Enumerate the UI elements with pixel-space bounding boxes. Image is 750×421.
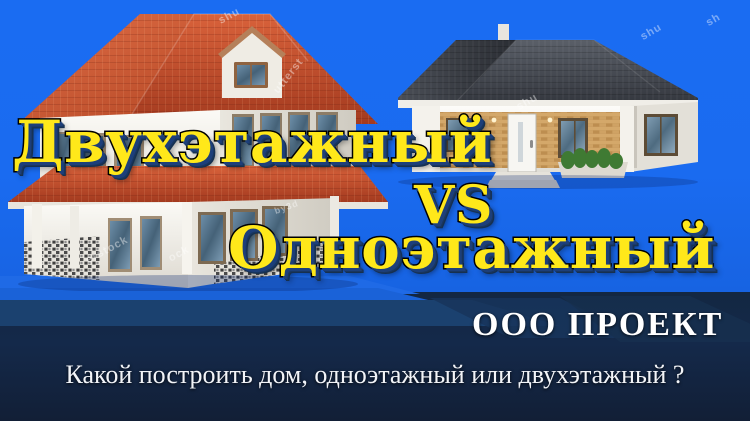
headline-two-storey: Двухэтажный	[12, 108, 492, 176]
tagline-question: Какой построить дом, одноэтажный или дву…	[0, 360, 750, 390]
headline-one-storey: Одноэтажный	[228, 214, 715, 282]
company-name: ООО ПРОЕКТ	[472, 306, 723, 344]
thumbnail-canvas: shu utterst erstock shu sh shu ock by3d …	[0, 0, 750, 421]
